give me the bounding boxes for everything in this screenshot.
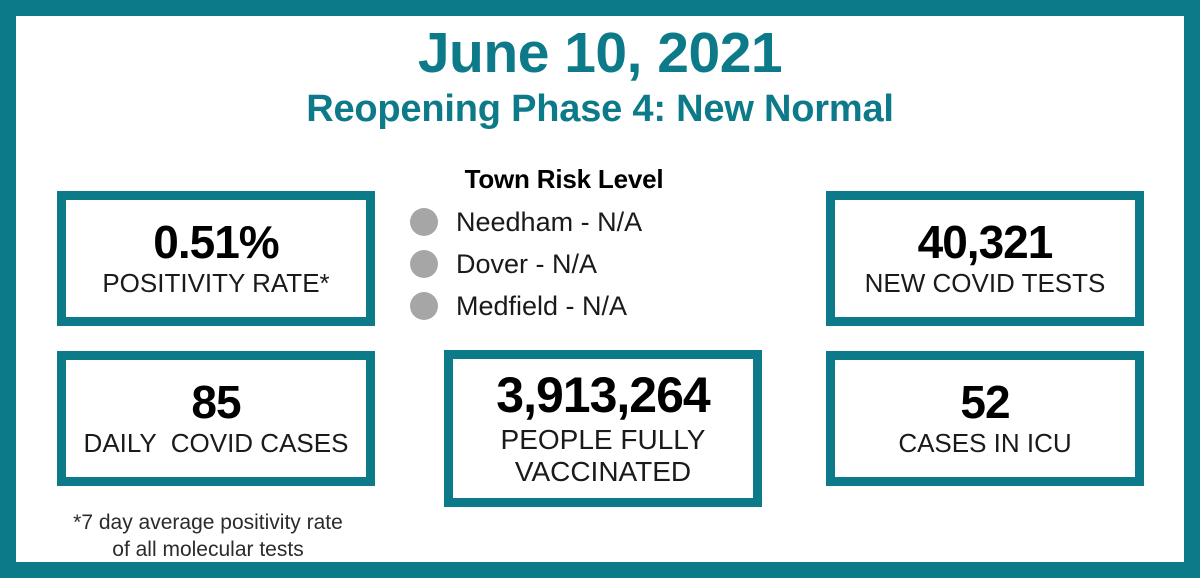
infographic-canvas: June 10, 2021 Reopening Phase 4: New Nor…	[16, 16, 1184, 562]
risk-row-dover: Dover - N/A	[394, 243, 734, 285]
stat-label: NEW COVID TESTS	[865, 269, 1106, 298]
risk-level-dot-icon	[410, 292, 438, 320]
risk-row-label: Medfield - N/A	[456, 293, 627, 320]
risk-row-needham: Needham - N/A	[394, 201, 734, 243]
risk-row-label: Dover - N/A	[456, 251, 597, 278]
town-risk-level-section: Town Risk Level Needham - N/A Dover - N/…	[394, 164, 734, 327]
page-title-date: June 10, 2021	[18, 24, 1182, 84]
stat-label: POSITIVITY RATE*	[102, 269, 329, 298]
risk-level-dot-icon	[410, 208, 438, 236]
risk-level-dot-icon	[410, 250, 438, 278]
stat-card-positivity-rate: 0.51% POSITIVITY RATE*	[57, 191, 375, 326]
stat-value: 3,913,264	[496, 370, 709, 420]
header: June 10, 2021 Reopening Phase 4: New Nor…	[18, 24, 1182, 132]
stat-card-daily-covid-cases: 85 DAILY COVID CASES	[57, 351, 375, 486]
positivity-rate-footnote: *7 day average positivity rate of all mo…	[32, 510, 384, 564]
risk-row-medfield: Medfield - N/A	[394, 285, 734, 327]
stat-value: 40,321	[918, 219, 1053, 265]
stat-card-new-covid-tests: 40,321 NEW COVID TESTS	[826, 191, 1144, 326]
page-subtitle-phase: Reopening Phase 4: New Normal	[18, 88, 1182, 132]
infographic-frame: June 10, 2021 Reopening Phase 4: New Nor…	[0, 0, 1200, 578]
stat-label: PEOPLE FULLY VACCINATED	[501, 424, 706, 487]
risk-row-label: Needham - N/A	[456, 209, 642, 236]
stat-card-people-fully-vaccinated: 3,913,264 PEOPLE FULLY VACCINATED	[444, 350, 762, 507]
stat-value: 52	[960, 379, 1009, 425]
stat-label: DAILY COVID CASES	[84, 429, 349, 458]
stat-label: CASES IN ICU	[898, 429, 1071, 458]
town-risk-level-heading: Town Risk Level	[394, 164, 734, 195]
stat-card-cases-in-icu: 52 CASES IN ICU	[826, 351, 1144, 486]
stat-value: 85	[191, 379, 240, 425]
stat-value: 0.51%	[153, 219, 278, 265]
